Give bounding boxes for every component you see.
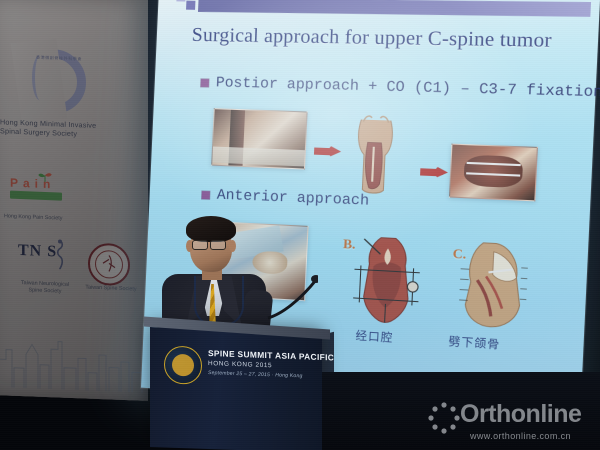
event-dates: September 25 – 27, 2015 · Hong Kong — [208, 370, 303, 379]
watermark-url: www.orthonline.com.cn — [470, 431, 571, 441]
globe-seal-icon — [164, 345, 202, 384]
speaker-lanyard — [194, 276, 244, 326]
event-location: HONG KONG 2015 — [208, 360, 272, 369]
screenshot-root: 香港微創脊柱外科學會 Hong Kong Minimal Invasive Sp… — [0, 0, 600, 450]
microphone-icon — [266, 274, 318, 320]
orthonline-ring-icon — [428, 402, 460, 434]
watermark-brand: Orthonline — [460, 400, 581, 429]
speaker-hair — [186, 216, 236, 242]
podium: SPINE SUMMIT ASIA PACIFIC HONG KONG 2015… — [150, 327, 322, 450]
watermark: Orthonline www.orthonline.com.cn — [426, 398, 592, 442]
podium-event-sign: SPINE SUMMIT ASIA PACIFIC HONG KONG 2015… — [164, 341, 310, 390]
sponsor-banner: 香港微創脊柱外科學會 Hong Kong Minimal Invasive Sp… — [0, 0, 148, 401]
